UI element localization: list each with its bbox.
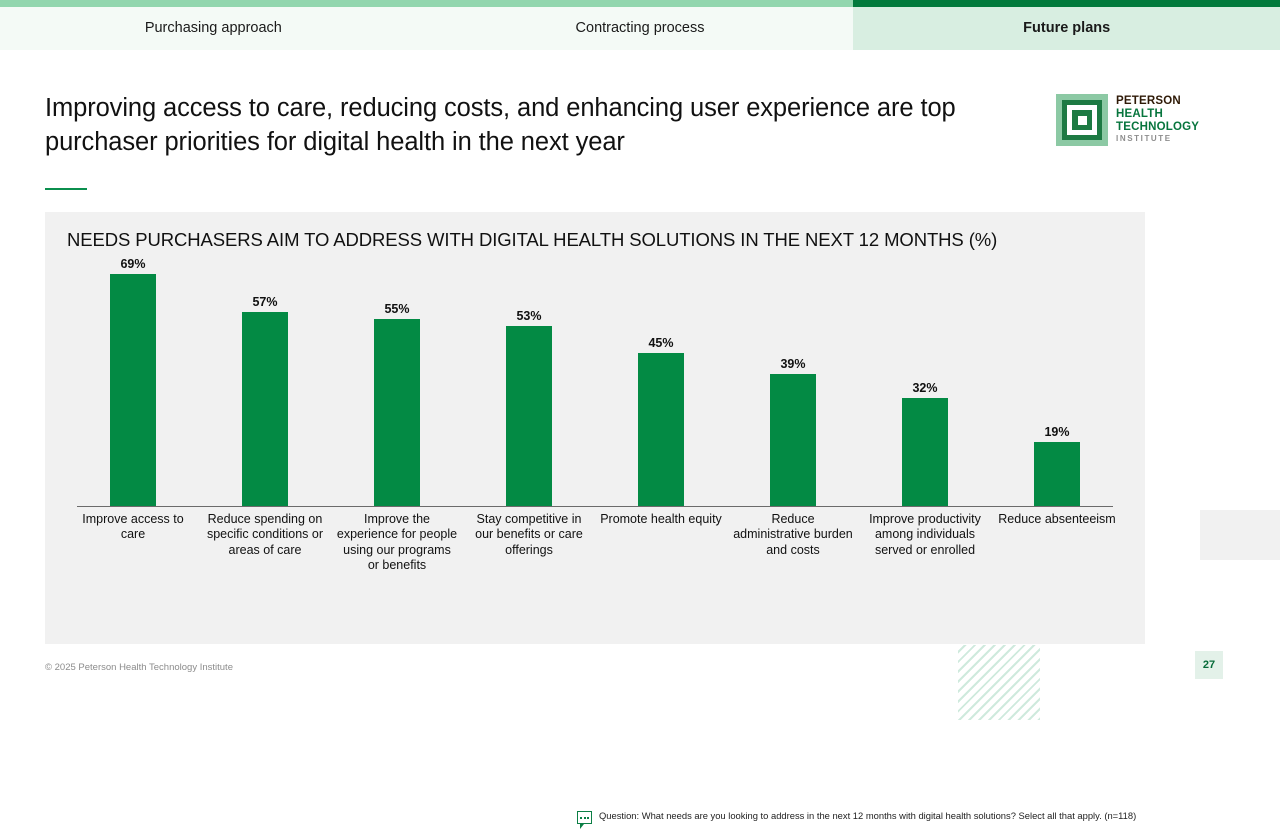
logo-line-2: HEALTH: [1116, 108, 1199, 121]
bar: [770, 374, 816, 507]
bar-value-label: 53%: [516, 309, 541, 323]
category-label: Reduce administrative burden and costs: [727, 512, 859, 573]
bar-column: 53%: [463, 257, 595, 507]
tab-label: Future plans: [1023, 20, 1110, 36]
tab-bar: Purchasing approach Contracting process …: [0, 0, 1280, 50]
bar-value-label: 57%: [252, 295, 277, 309]
chart-footnote: Question: What needs are you looking to …: [577, 810, 1136, 824]
footnote-text: Question: What needs are you looking to …: [599, 810, 1136, 823]
page-number-badge: 27: [1195, 651, 1223, 679]
bar: [110, 274, 156, 507]
logo-wordmark: PETERSON HEALTH TECHNOLOGY INSTITUTE: [1116, 94, 1199, 144]
bar-chart-plot-area: 69%57%55%53%45%39%32%19%: [67, 257, 1123, 507]
chart-panel: NEEDS PURCHASERS AIM TO ADDRESS WITH DIG…: [45, 212, 1145, 644]
chart-baseline-axis: [77, 506, 1113, 507]
bar-column: 69%: [67, 257, 199, 507]
bar: [242, 312, 288, 507]
copyright-text: © 2025 Peterson Health Technology Instit…: [45, 662, 233, 673]
bar: [506, 326, 552, 507]
category-label: Stay competitive in our benefits or care…: [463, 512, 595, 573]
bar-columns: 69%57%55%53%45%39%32%19%: [67, 257, 1123, 507]
peterson-health-technology-institute-logo: PETERSON HEALTH TECHNOLOGY INSTITUTE: [1056, 94, 1199, 146]
category-label: Promote health equity: [595, 512, 727, 573]
title-underline-rule: [45, 188, 87, 190]
decorative-gray-block: [1200, 510, 1280, 560]
logo-line-1: PETERSON: [1116, 95, 1199, 108]
tab-purchasing-approach[interactable]: Purchasing approach: [0, 0, 427, 50]
page-title: Improving access to care, reducing costs…: [45, 92, 1005, 159]
decorative-diagonal-stripes: [958, 645, 1040, 720]
logo-line-4: INSTITUTE: [1116, 134, 1199, 144]
bar-value-label: 39%: [780, 357, 805, 371]
bar: [638, 353, 684, 507]
logo-mark-icon: [1056, 94, 1108, 146]
tab-label: Contracting process: [576, 20, 705, 36]
category-label: Reduce absenteeism: [991, 512, 1123, 573]
category-axis-labels: Improve access to careReduce spending on…: [67, 512, 1123, 573]
bar-value-label: 55%: [384, 302, 409, 316]
bar-column: 45%: [595, 257, 727, 507]
bar-value-label: 69%: [120, 257, 145, 271]
category-label: Improve productivity among individuals s…: [859, 512, 991, 573]
bar: [902, 398, 948, 507]
bar: [374, 319, 420, 507]
tab-contracting-process[interactable]: Contracting process: [427, 0, 854, 50]
bar-value-label: 19%: [1044, 425, 1069, 439]
speech-bubble-icon: [577, 811, 592, 824]
tab-future-plans[interactable]: Future plans: [853, 0, 1280, 50]
chart-title: NEEDS PURCHASERS AIM TO ADDRESS WITH DIG…: [67, 229, 997, 251]
bar-column: 55%: [331, 257, 463, 507]
bar-value-label: 45%: [648, 336, 673, 350]
logo-line-3: TECHNOLOGY: [1116, 121, 1199, 134]
bar-column: 32%: [859, 257, 991, 507]
bar-column: 39%: [727, 257, 859, 507]
category-label: Improve access to care: [67, 512, 199, 573]
category-label: Reduce spending on specific conditions o…: [199, 512, 331, 573]
bar: [1034, 442, 1080, 507]
bar-column: 57%: [199, 257, 331, 507]
tab-label: Purchasing approach: [145, 20, 282, 36]
category-label: Improve the experience for people using …: [331, 512, 463, 573]
bar-column: 19%: [991, 257, 1123, 507]
bar-value-label: 32%: [912, 381, 937, 395]
